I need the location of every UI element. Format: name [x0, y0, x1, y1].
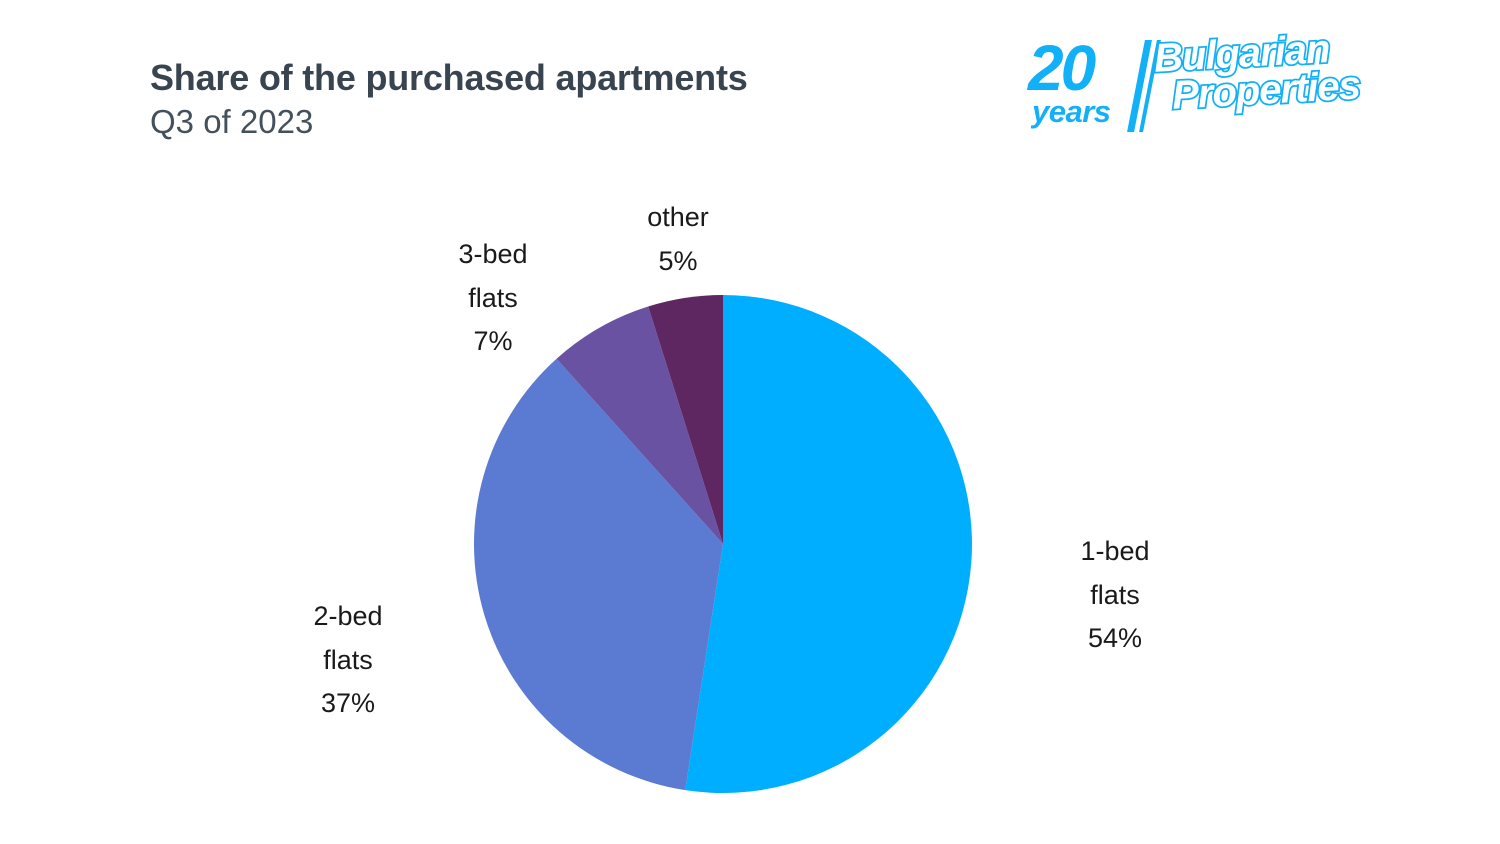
pie-label-two-bed: 2-bed flats 37% — [270, 595, 426, 726]
pie-slice-group — [474, 295, 972, 793]
pie-label-one-bed: 1-bed flats 54% — [1037, 530, 1193, 661]
pie-label-three-bed: 3-bed flats 7% — [415, 233, 571, 364]
pie-label-other: other 5% — [600, 196, 756, 283]
pie-slice — [685, 295, 972, 793]
pie-chart-svg — [474, 295, 972, 793]
pie-chart: 1-bed flats 54% 2-bed flats 37% 3-bed fl… — [0, 0, 1500, 844]
